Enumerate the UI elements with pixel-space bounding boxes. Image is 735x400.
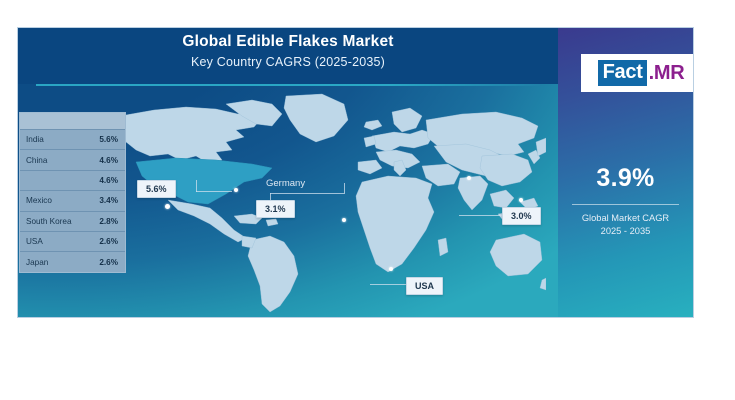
stat-caption-line2: 2025 - 2035: [558, 226, 693, 236]
stat-caption-line1: Global Market CAGR: [558, 213, 693, 223]
infographic-card: India 5.6% China 4.6% 4.6% Mexico 3.4% S…: [17, 27, 694, 318]
page-title: Global Edible Flakes Market: [18, 33, 558, 51]
cagr-table: India 5.6% China 4.6% 4.6% Mexico 3.4% S…: [19, 112, 126, 273]
map-panel: India 5.6% China 4.6% 4.6% Mexico 3.4% S…: [18, 28, 558, 317]
table-cell-cagr: 2.8%: [99, 217, 125, 226]
page-subtitle: Key Country CAGRS (2025-2035): [18, 55, 558, 69]
callout-leader-line: [344, 183, 345, 193]
logo-text-mr: .MR: [647, 62, 685, 85]
table-row[interactable]: China 4.6%: [20, 150, 125, 170]
screenshot-canvas: India 5.6% China 4.6% 4.6% Mexico 3.4% S…: [0, 0, 735, 400]
stat-divider: [572, 204, 679, 205]
table-cell-country: USA: [20, 237, 99, 246]
callout-value-31[interactable]: 3.1%: [256, 200, 295, 218]
map-dot-usa-north: [234, 188, 238, 192]
table-cell-country: India: [20, 135, 99, 144]
table-cell-country: China: [20, 156, 99, 165]
world-map: [76, 90, 546, 315]
table-cell-country: Japan: [20, 258, 99, 267]
logo-text-fact: Fact: [598, 60, 647, 86]
table-cell-cagr: 4.6%: [99, 176, 125, 185]
table-cell-cagr: 2.6%: [99, 237, 125, 246]
callout-label-usa[interactable]: USA: [406, 277, 443, 295]
global-cagr-value: 3.9%: [558, 164, 693, 193]
table-row[interactable]: 4.6%: [20, 171, 125, 191]
callout-leader-line: [196, 180, 197, 192]
callout-leader-line: [196, 191, 232, 192]
table-cell-country: Mexico: [20, 196, 99, 205]
logo-inner: Fact .MR: [598, 60, 685, 86]
table-row[interactable]: USA 2.6%: [20, 232, 125, 252]
callout-value-30[interactable]: 3.0%: [502, 207, 541, 225]
map-dot-asia: [519, 198, 523, 202]
brand-logo[interactable]: Fact .MR: [581, 54, 694, 92]
table-row[interactable]: Mexico 3.4%: [20, 191, 125, 211]
table-cell-cagr: 4.6%: [99, 156, 125, 165]
map-dot-europe: [467, 176, 471, 180]
map-dot-usa-west: [165, 204, 170, 209]
callout-leader-line: [459, 215, 503, 216]
callout-leader-line: [370, 284, 408, 285]
table-cell-cagr: 2.6%: [99, 258, 125, 267]
table-cell-country: South Korea: [20, 217, 99, 226]
map-dot-west-africa: [342, 218, 346, 222]
callout-leader-line: [270, 193, 345, 194]
table-cell-cagr: 5.6%: [99, 135, 125, 144]
table-header-row: [20, 113, 125, 130]
table-row[interactable]: South Korea 2.8%: [20, 212, 125, 232]
table-row[interactable]: India 5.6%: [20, 130, 125, 150]
table-row[interactable]: Japan 2.6%: [20, 252, 125, 271]
header-divider: [36, 84, 540, 86]
map-dot-africa: [389, 267, 393, 271]
callout-value-56[interactable]: 5.6%: [137, 180, 176, 198]
table-cell-cagr: 3.4%: [99, 196, 125, 205]
callout-label-germany: Germany: [266, 178, 305, 189]
